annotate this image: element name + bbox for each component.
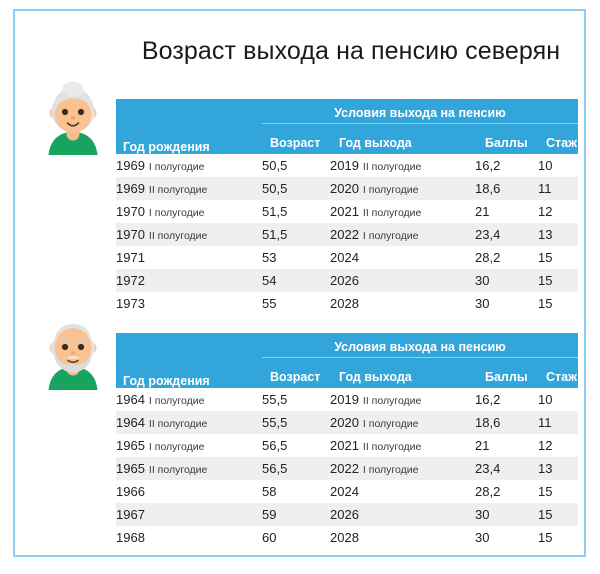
cell-exit-year: 2028: [330, 292, 475, 315]
col-header-points: Баллы: [475, 358, 538, 389]
cell-exit-year: 2026: [330, 269, 475, 292]
cell-points: 30: [475, 269, 538, 292]
elderly-woman-avatar: [42, 81, 104, 155]
table-row: 1964I полугодие55,52019II полугодие16,21…: [116, 388, 578, 411]
cell-birth-year: 1967: [116, 503, 262, 526]
cell-age: 55,5: [262, 411, 330, 434]
cell-birth-year: 1971: [116, 246, 262, 269]
cell-age: 54: [262, 269, 330, 292]
cell-exit-year: 2019II полугодие: [330, 388, 475, 411]
cell-exit-year: 2022I полугодие: [330, 457, 475, 480]
cell-age: 53: [262, 246, 330, 269]
cell-birth-year: 1964I полугодие: [116, 388, 262, 411]
page-title: Возраст выхода на пенсию северян: [116, 35, 586, 67]
table-row: 1965II полугодие56,52022I полугодие23,41…: [116, 457, 578, 480]
col-header-group-conditions: Условия выхода на пенсию: [262, 333, 578, 358]
cell-experience: 13: [538, 457, 578, 480]
table-row: 19725420263015: [116, 269, 578, 292]
cell-age: 60: [262, 526, 330, 549]
cell-experience: 12: [538, 200, 578, 223]
cell-age: 59: [262, 503, 330, 526]
cell-birth-year: 1966: [116, 480, 262, 503]
cell-birth-year: 1973: [116, 292, 262, 315]
cell-experience: 11: [538, 177, 578, 200]
cell-experience: 15: [538, 246, 578, 269]
cell-points: 28,2: [475, 480, 538, 503]
cell-points: 30: [475, 292, 538, 315]
cell-exit-year: 2020I полугодие: [330, 177, 475, 200]
cell-experience: 15: [538, 503, 578, 526]
cell-experience: 15: [538, 526, 578, 549]
cell-age: 58: [262, 480, 330, 503]
cell-points: 18,6: [475, 177, 538, 200]
col-header-birth-year: Год рождения: [116, 333, 262, 388]
table-row: 19735520283015: [116, 292, 578, 315]
cell-points: 21: [475, 434, 538, 457]
cell-points: 30: [475, 503, 538, 526]
table-row: 1969II полугодие50,52020I полугодие18,61…: [116, 177, 578, 200]
table-header: Год рождения Условия выхода на пенсию Во…: [116, 333, 578, 388]
cell-points: 16,2: [475, 388, 538, 411]
cell-exit-year: 2024: [330, 480, 475, 503]
table-body: 1964I полугодие55,52019II полугодие16,21…: [116, 388, 578, 549]
cell-birth-year: 1965II полугодие: [116, 457, 262, 480]
cell-age: 56,5: [262, 457, 330, 480]
cell-age: 50,5: [262, 177, 330, 200]
cell-exit-year: 2020I полугодие: [330, 411, 475, 434]
cell-age: 51,5: [262, 200, 330, 223]
cell-experience: 12: [538, 434, 578, 457]
col-header-experience: Стаж: [538, 124, 578, 155]
cell-exit-year: 2026: [330, 503, 475, 526]
col-header-birth-year: Год рождения: [116, 99, 262, 154]
cell-birth-year: 1970II полугодие: [116, 223, 262, 246]
cell-birth-year: 1972: [116, 269, 262, 292]
cell-exit-year: 2021II полугодие: [330, 200, 475, 223]
table-row: 1965I полугодие56,52021II полугодие2112: [116, 434, 578, 457]
cell-points: 16,2: [475, 154, 538, 177]
table-row: 19686020283015: [116, 526, 578, 549]
table-row: 1964II полугодие55,52020I полугодие18,61…: [116, 411, 578, 434]
table-row: 196658202428,215: [116, 480, 578, 503]
col-header-age: Возраст: [262, 358, 330, 389]
cell-experience: 10: [538, 154, 578, 177]
page-frame: Возраст выхода на пенсию северян: [13, 9, 586, 557]
cell-points: 28,2: [475, 246, 538, 269]
cell-age: 51,5: [262, 223, 330, 246]
col-header-experience: Стаж: [538, 358, 578, 389]
col-header-exit-year: Год выхода: [330, 124, 475, 155]
cell-birth-year: 1969II полугодие: [116, 177, 262, 200]
cell-birth-year: 1965I полугодие: [116, 434, 262, 457]
cell-points: 23,4: [475, 223, 538, 246]
cell-exit-year: 2021II полугодие: [330, 434, 475, 457]
table-row: 1969I полугодие50,52019II полугодие16,21…: [116, 154, 578, 177]
cell-age: 56,5: [262, 434, 330, 457]
elderly-man-avatar: [42, 316, 104, 390]
cell-age: 55: [262, 292, 330, 315]
cell-exit-year: 2024: [330, 246, 475, 269]
cell-points: 30: [475, 526, 538, 549]
col-header-exit-year: Год выхода: [330, 358, 475, 389]
pension-table-men: Год рождения Условия выхода на пенсию Во…: [116, 333, 578, 549]
col-header-group-conditions: Условия выхода на пенсию: [262, 99, 578, 124]
col-header-age: Возраст: [262, 124, 330, 155]
cell-birth-year: 1969I полугодие: [116, 154, 262, 177]
cell-points: 21: [475, 200, 538, 223]
cell-birth-year: 1968: [116, 526, 262, 549]
cell-experience: 15: [538, 480, 578, 503]
cell-age: 50,5: [262, 154, 330, 177]
col-header-points: Баллы: [475, 124, 538, 155]
cell-experience: 15: [538, 292, 578, 315]
cell-exit-year: 2022I полугодие: [330, 223, 475, 246]
cell-points: 23,4: [475, 457, 538, 480]
table-header: Год рождения Условия выхода на пенсию Во…: [116, 99, 578, 154]
cell-exit-year: 2019II полугодие: [330, 154, 475, 177]
cell-exit-year: 2028: [330, 526, 475, 549]
table-row: 19675920263015: [116, 503, 578, 526]
cell-birth-year: 1964II полугодие: [116, 411, 262, 434]
cell-experience: 15: [538, 269, 578, 292]
table-body: 1969I полугодие50,52019II полугодие16,21…: [116, 154, 578, 315]
table-row: 1970I полугодие51,52021II полугодие2112: [116, 200, 578, 223]
pension-table-women: Год рождения Условия выхода на пенсию Во…: [116, 99, 578, 315]
cell-points: 18,6: [475, 411, 538, 434]
cell-experience: 10: [538, 388, 578, 411]
table-row: 197153202428,215: [116, 246, 578, 269]
cell-experience: 13: [538, 223, 578, 246]
table-row: 1970II полугодие51,52022I полугодие23,41…: [116, 223, 578, 246]
cell-birth-year: 1970I полугодие: [116, 200, 262, 223]
cell-age: 55,5: [262, 388, 330, 411]
cell-experience: 11: [538, 411, 578, 434]
